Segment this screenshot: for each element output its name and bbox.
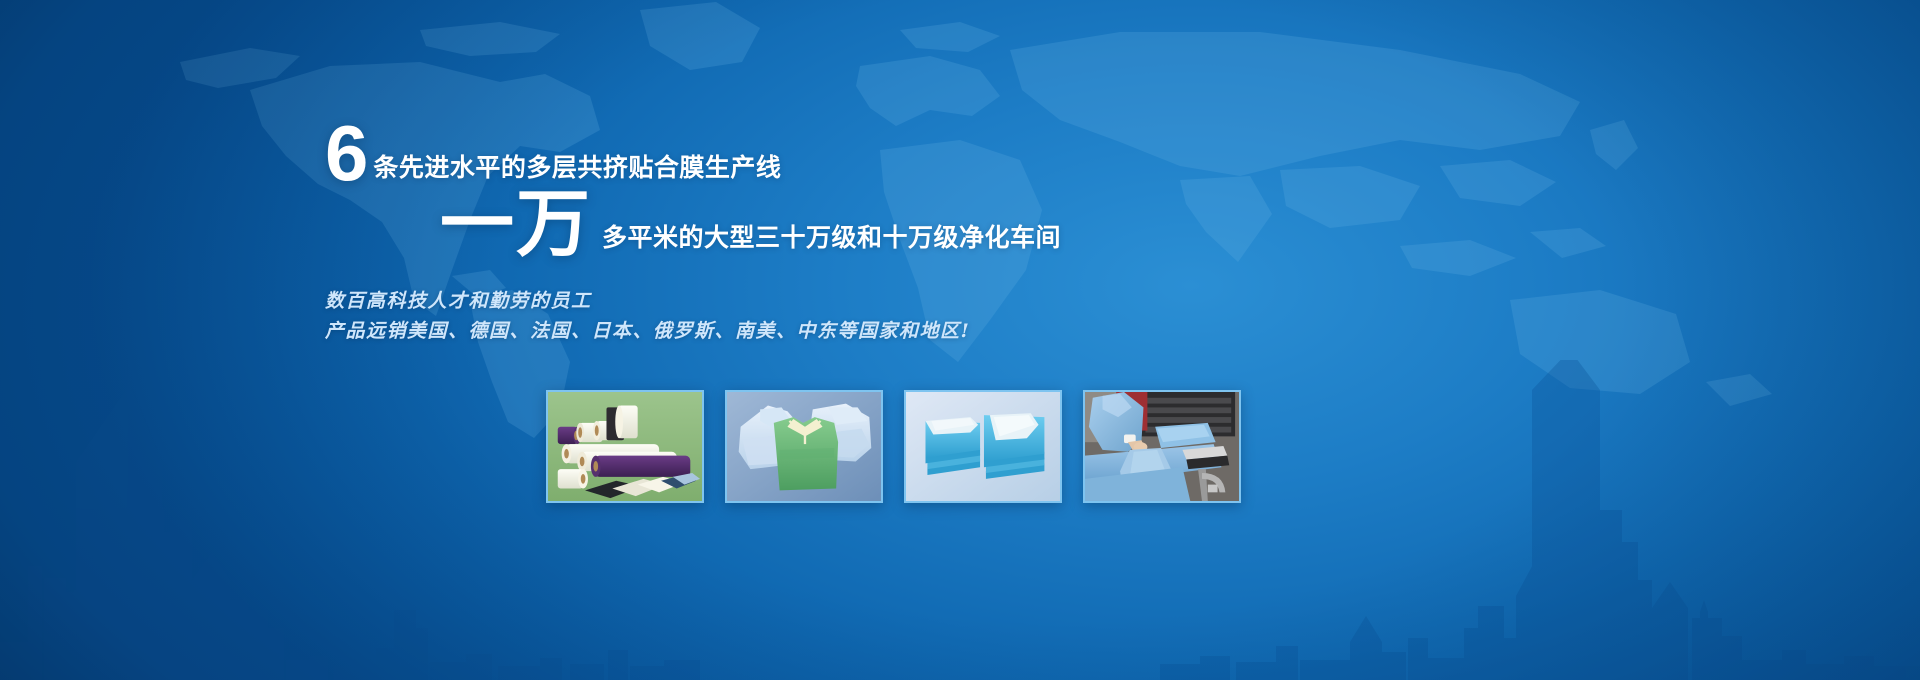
surgical-gowns-image [727, 392, 881, 501]
headline-line-1: 6 条先进水平的多层共挤贴合膜生产线 [325, 118, 781, 190]
headline-line-2: 一万 多平米的大型三十万级和十万级净化车间 [440, 190, 1061, 258]
script-line-2: 产品远销美国、德国、法国、日本、俄罗斯、南美、中东等国家和地区! [325, 316, 970, 343]
copy-block: 6 条先进水平的多层共挤贴合膜生产线 一万 多平米的大型三十万级和十万级净化车间… [0, 0, 1920, 680]
medical-drapes-image [906, 392, 1060, 501]
script-line-1: 数百高科技人才和勤劳的员工 [325, 286, 592, 313]
gallery-item-hospital-bed-drape[interactable] [1083, 390, 1241, 503]
headline-2-text: 多平米的大型三十万级和十万级净化车间 [602, 226, 1061, 258]
plastic-film-rolls-image [548, 392, 702, 501]
headline-2-number: 一万 [440, 190, 592, 258]
promo-banner: 6 条先进水平的多层共挤贴合膜生产线 一万 多平米的大型三十万级和十万级净化车间… [0, 0, 1920, 680]
product-gallery [546, 390, 1241, 503]
gallery-item-plastic-film-rolls[interactable] [546, 390, 704, 503]
gallery-item-medical-drapes[interactable] [904, 390, 1062, 503]
gallery-item-surgical-gowns[interactable] [725, 390, 883, 503]
hospital-bed-drape-image [1085, 392, 1239, 501]
headline-1-number: 6 [325, 118, 367, 190]
